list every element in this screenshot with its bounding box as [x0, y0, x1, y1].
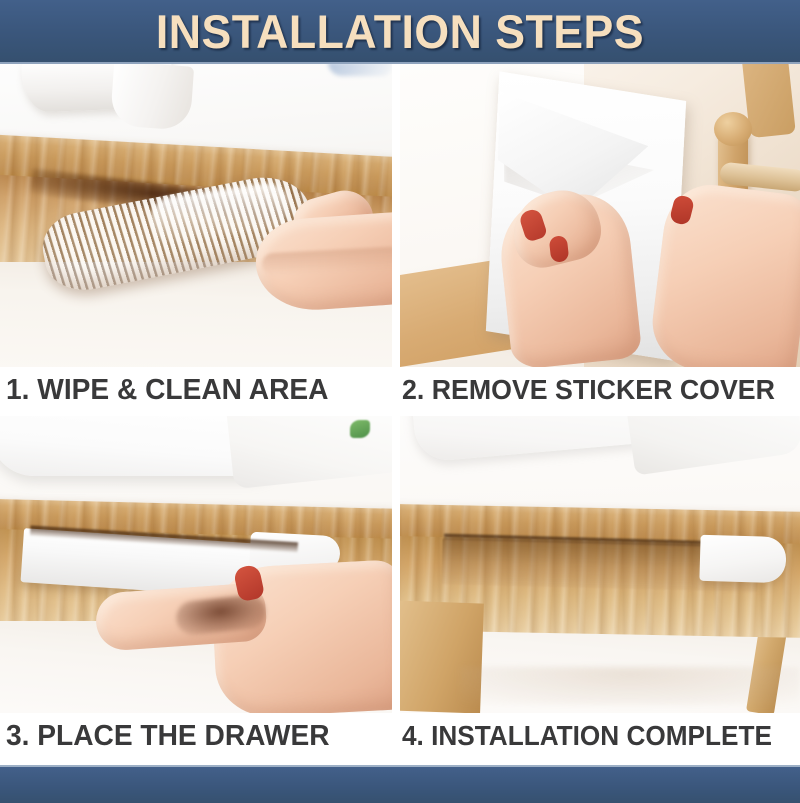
step-2-caption: 2. REMOVE STICKER COVER [400, 367, 800, 413]
step-1-image [0, 64, 392, 367]
blue-accent [328, 64, 392, 76]
step-1-caption-text: 1. WIPE & CLEAN AREA [6, 376, 328, 405]
step-1-caption: 1. WIPE & CLEAN AREA [0, 367, 392, 413]
green-accent [350, 420, 370, 438]
footer-bar [0, 765, 800, 803]
step-1-photo [0, 64, 392, 367]
step-4-caption-text: 4. INSTALLATION COMPLETE [402, 722, 772, 750]
step-4-image [400, 416, 800, 713]
steps-grid: 1. WIPE & CLEAN AREA 2. REMOVE STICKER C… [0, 64, 800, 765]
drawer-end-cap [699, 535, 786, 583]
step-3-photo [0, 416, 392, 713]
fingernail-left-second [549, 235, 570, 263]
step-4-caption: 4. INSTALLATION COMPLETE [400, 713, 800, 759]
step-3-caption-text: 3. PLACE THE DRAWER [6, 722, 330, 751]
step-2-caption-text: 2. REMOVE STICKER COVER [402, 376, 775, 404]
step-3-image [0, 416, 392, 713]
installation-steps-infographic: INSTALLATION STEPS [0, 0, 800, 803]
step-2-image [400, 64, 800, 367]
step-2-photo [400, 64, 800, 367]
chair-knob [714, 112, 752, 146]
step-3-caption: 3. PLACE THE DRAWER [0, 713, 392, 759]
page-title: INSTALLATION STEPS [156, 8, 644, 55]
paper-roll-secondary [110, 64, 194, 131]
floor-shadow [460, 667, 800, 705]
header-bar: INSTALLATION STEPS [0, 0, 800, 64]
step-4-photo [400, 416, 800, 713]
